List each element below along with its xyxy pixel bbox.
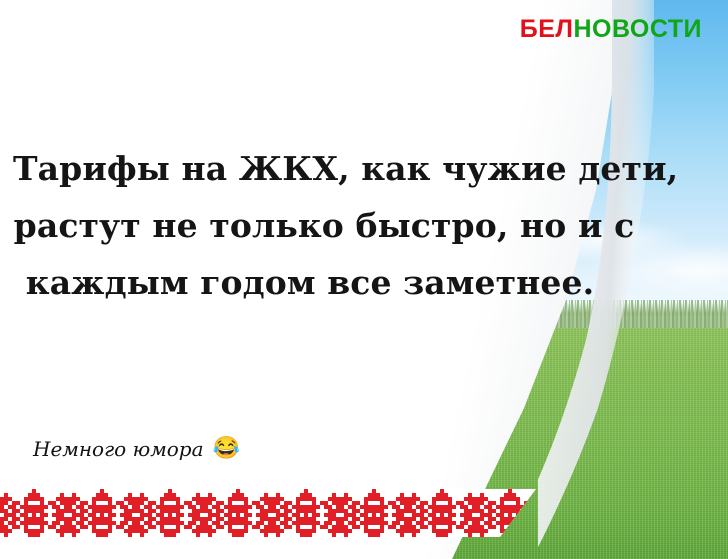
- image-card: БЕЛНОВОСТИ Тарифы на ЖКХ, как чужие дети…: [0, 0, 728, 559]
- logo-text-green: НОВОСТИ: [573, 15, 702, 43]
- logo-text-red: БЕЛ: [520, 15, 574, 43]
- quote-text: Тарифы на ЖКХ, как чужие дети, растут не…: [16, 140, 648, 311]
- quote-line-2: растут не только быстро, но и с: [8, 197, 640, 254]
- site-logo: БЕЛНОВОСТИ: [520, 17, 702, 42]
- caption-label: Немного юмора: [33, 439, 204, 459]
- face-with-tears-of-joy-icon: 😂: [213, 438, 240, 460]
- quote-line-1: Тарифы на ЖКХ, как чужие дети,: [13, 140, 645, 197]
- quote-line-3: каждым годом все заметнее.: [0, 254, 626, 311]
- caption: Немного юмора 😂: [33, 438, 240, 460]
